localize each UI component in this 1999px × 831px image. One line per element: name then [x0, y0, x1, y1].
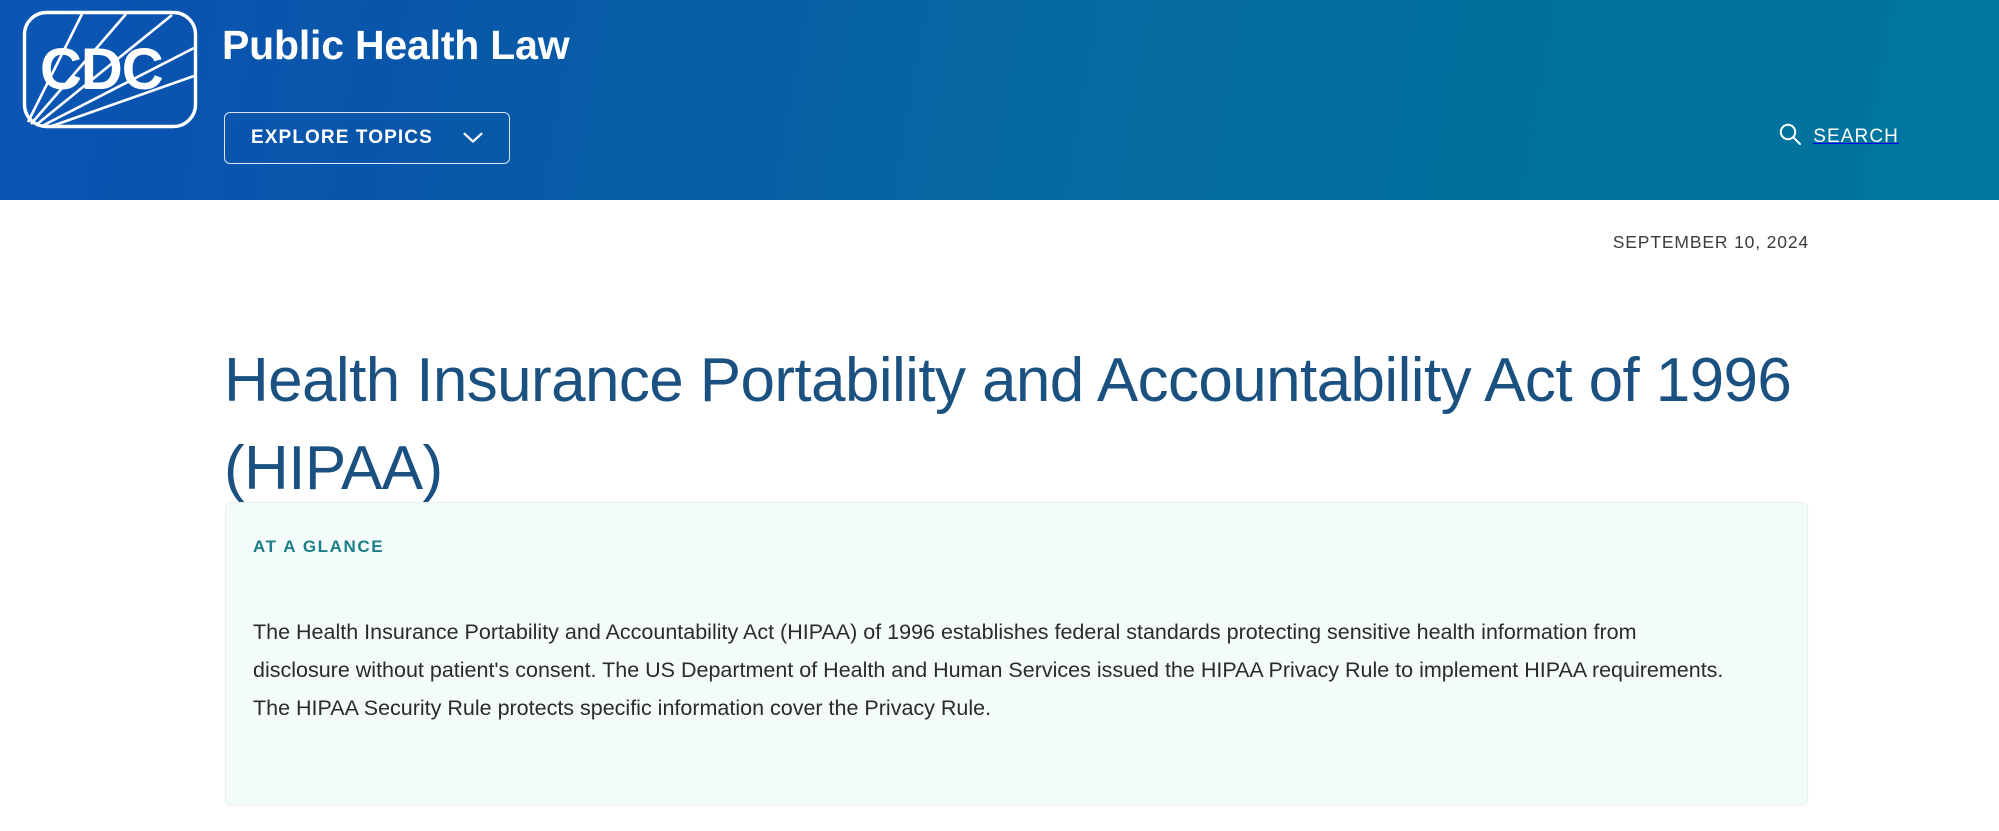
search-button[interactable]: SEARCH	[1778, 122, 1899, 151]
chevron-down-icon	[463, 132, 483, 144]
explore-topics-label: EXPLORE TOPICS	[251, 127, 433, 149]
cdc-logo-link[interactable]: CDC	[22, 10, 198, 129]
publish-date: SEPTEMBER 10, 2024	[1613, 232, 1809, 253]
at-a-glance-eyebrow: AT A GLANCE	[253, 537, 384, 557]
at-a-glance-body: The Health Insurance Portability and Acc…	[253, 613, 1733, 727]
at-a-glance-card: AT A GLANCE The Health Insurance Portabi…	[225, 502, 1808, 805]
search-label: SEARCH	[1813, 126, 1899, 148]
explore-topics-button[interactable]: EXPLORE TOPICS	[224, 112, 510, 164]
svg-text:CDC: CDC	[40, 37, 163, 102]
page-body: SEPTEMBER 10, 2024 Health Insurance Port…	[0, 200, 1999, 831]
site-header: CDC Public Health Law EXPLORE TOPICS SEA…	[0, 0, 1999, 200]
cdc-logo-icon: CDC	[22, 10, 198, 129]
search-icon	[1778, 122, 1802, 151]
page-title: Health Insurance Portability and Account…	[224, 337, 1824, 513]
site-title: Public Health Law	[222, 20, 569, 70]
